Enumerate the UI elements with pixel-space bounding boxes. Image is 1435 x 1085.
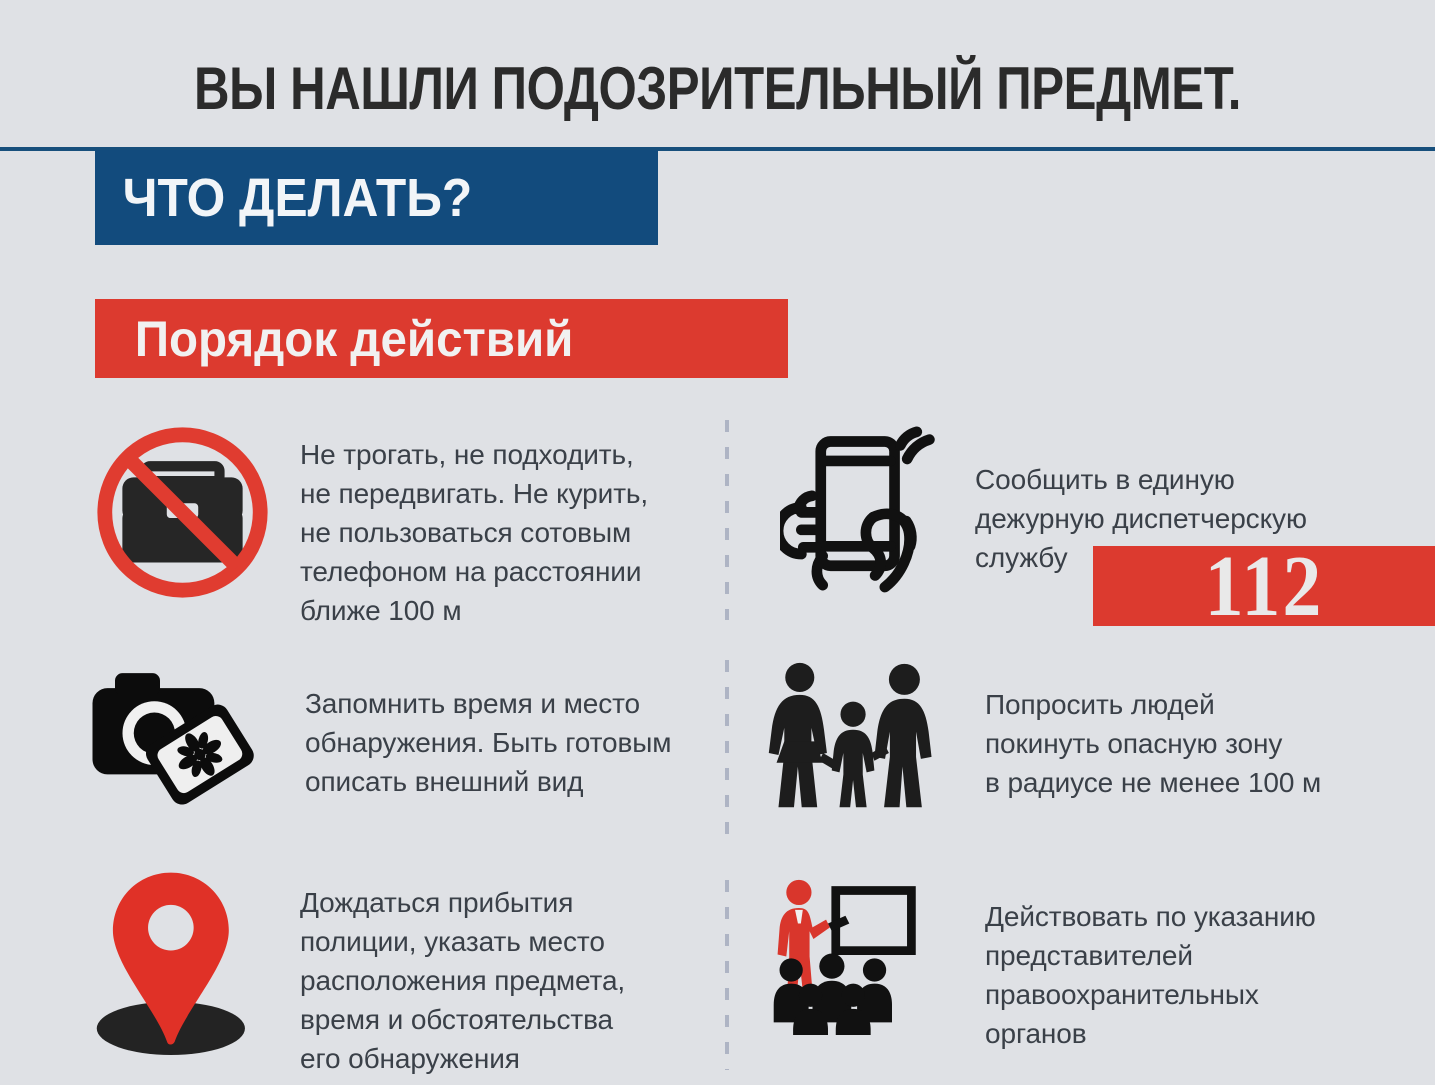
what-to-do-banner: ЧТО ДЕЛАТЬ?	[95, 150, 658, 245]
step-item-wait-for-police: Дождаться прибытия полиции, указать мест…	[85, 865, 715, 1078]
step-item-follow-instructions: Действовать по указанию представителей п…	[765, 875, 1435, 1053]
step-item-remember-time-place: Запомнить время и место обнаружения. Быт…	[85, 660, 715, 810]
family-group-icon	[760, 660, 950, 815]
step-item-no-touch: Не трогать, не подходить, не передвигать…	[85, 420, 715, 630]
step-text: Дождаться прибытия полиции, указать мест…	[300, 865, 625, 1078]
step-text: Попросить людей покинуть опасную зону в …	[985, 660, 1321, 802]
ringing-phone-in-hand-icon	[780, 420, 945, 595]
emergency-number-label: 112	[1205, 542, 1324, 629]
camera-photo-icon	[85, 660, 280, 810]
steps-grid: Не трогать, не подходить, не передвигать…	[0, 405, 1435, 1085]
action-order-banner-label: Порядок действий	[95, 310, 573, 368]
step-text: Действовать по указанию представителей п…	[985, 875, 1316, 1053]
what-to-do-banner-label: ЧТО ДЕЛАТЬ?	[95, 167, 472, 229]
action-order-banner: Порядок действий	[95, 299, 788, 378]
emergency-number-badge: 112	[1093, 546, 1435, 626]
page-title: ВЫ НАШЛИ ПОДОЗРИТЕЛЬНЫЙ ПРЕДМЕТ.	[129, 54, 1306, 123]
step-text: Запомнить время и место обнаружения. Быт…	[305, 660, 671, 801]
no-briefcase-icon	[85, 420, 280, 605]
presenter-audience-icon	[765, 875, 955, 1035]
step-item-evacuate-people: Попросить людей покинуть опасную зону в …	[760, 660, 1435, 815]
step-text: Не трогать, не подходить, не передвигать…	[300, 420, 648, 630]
map-pin-icon	[85, 865, 270, 1055]
